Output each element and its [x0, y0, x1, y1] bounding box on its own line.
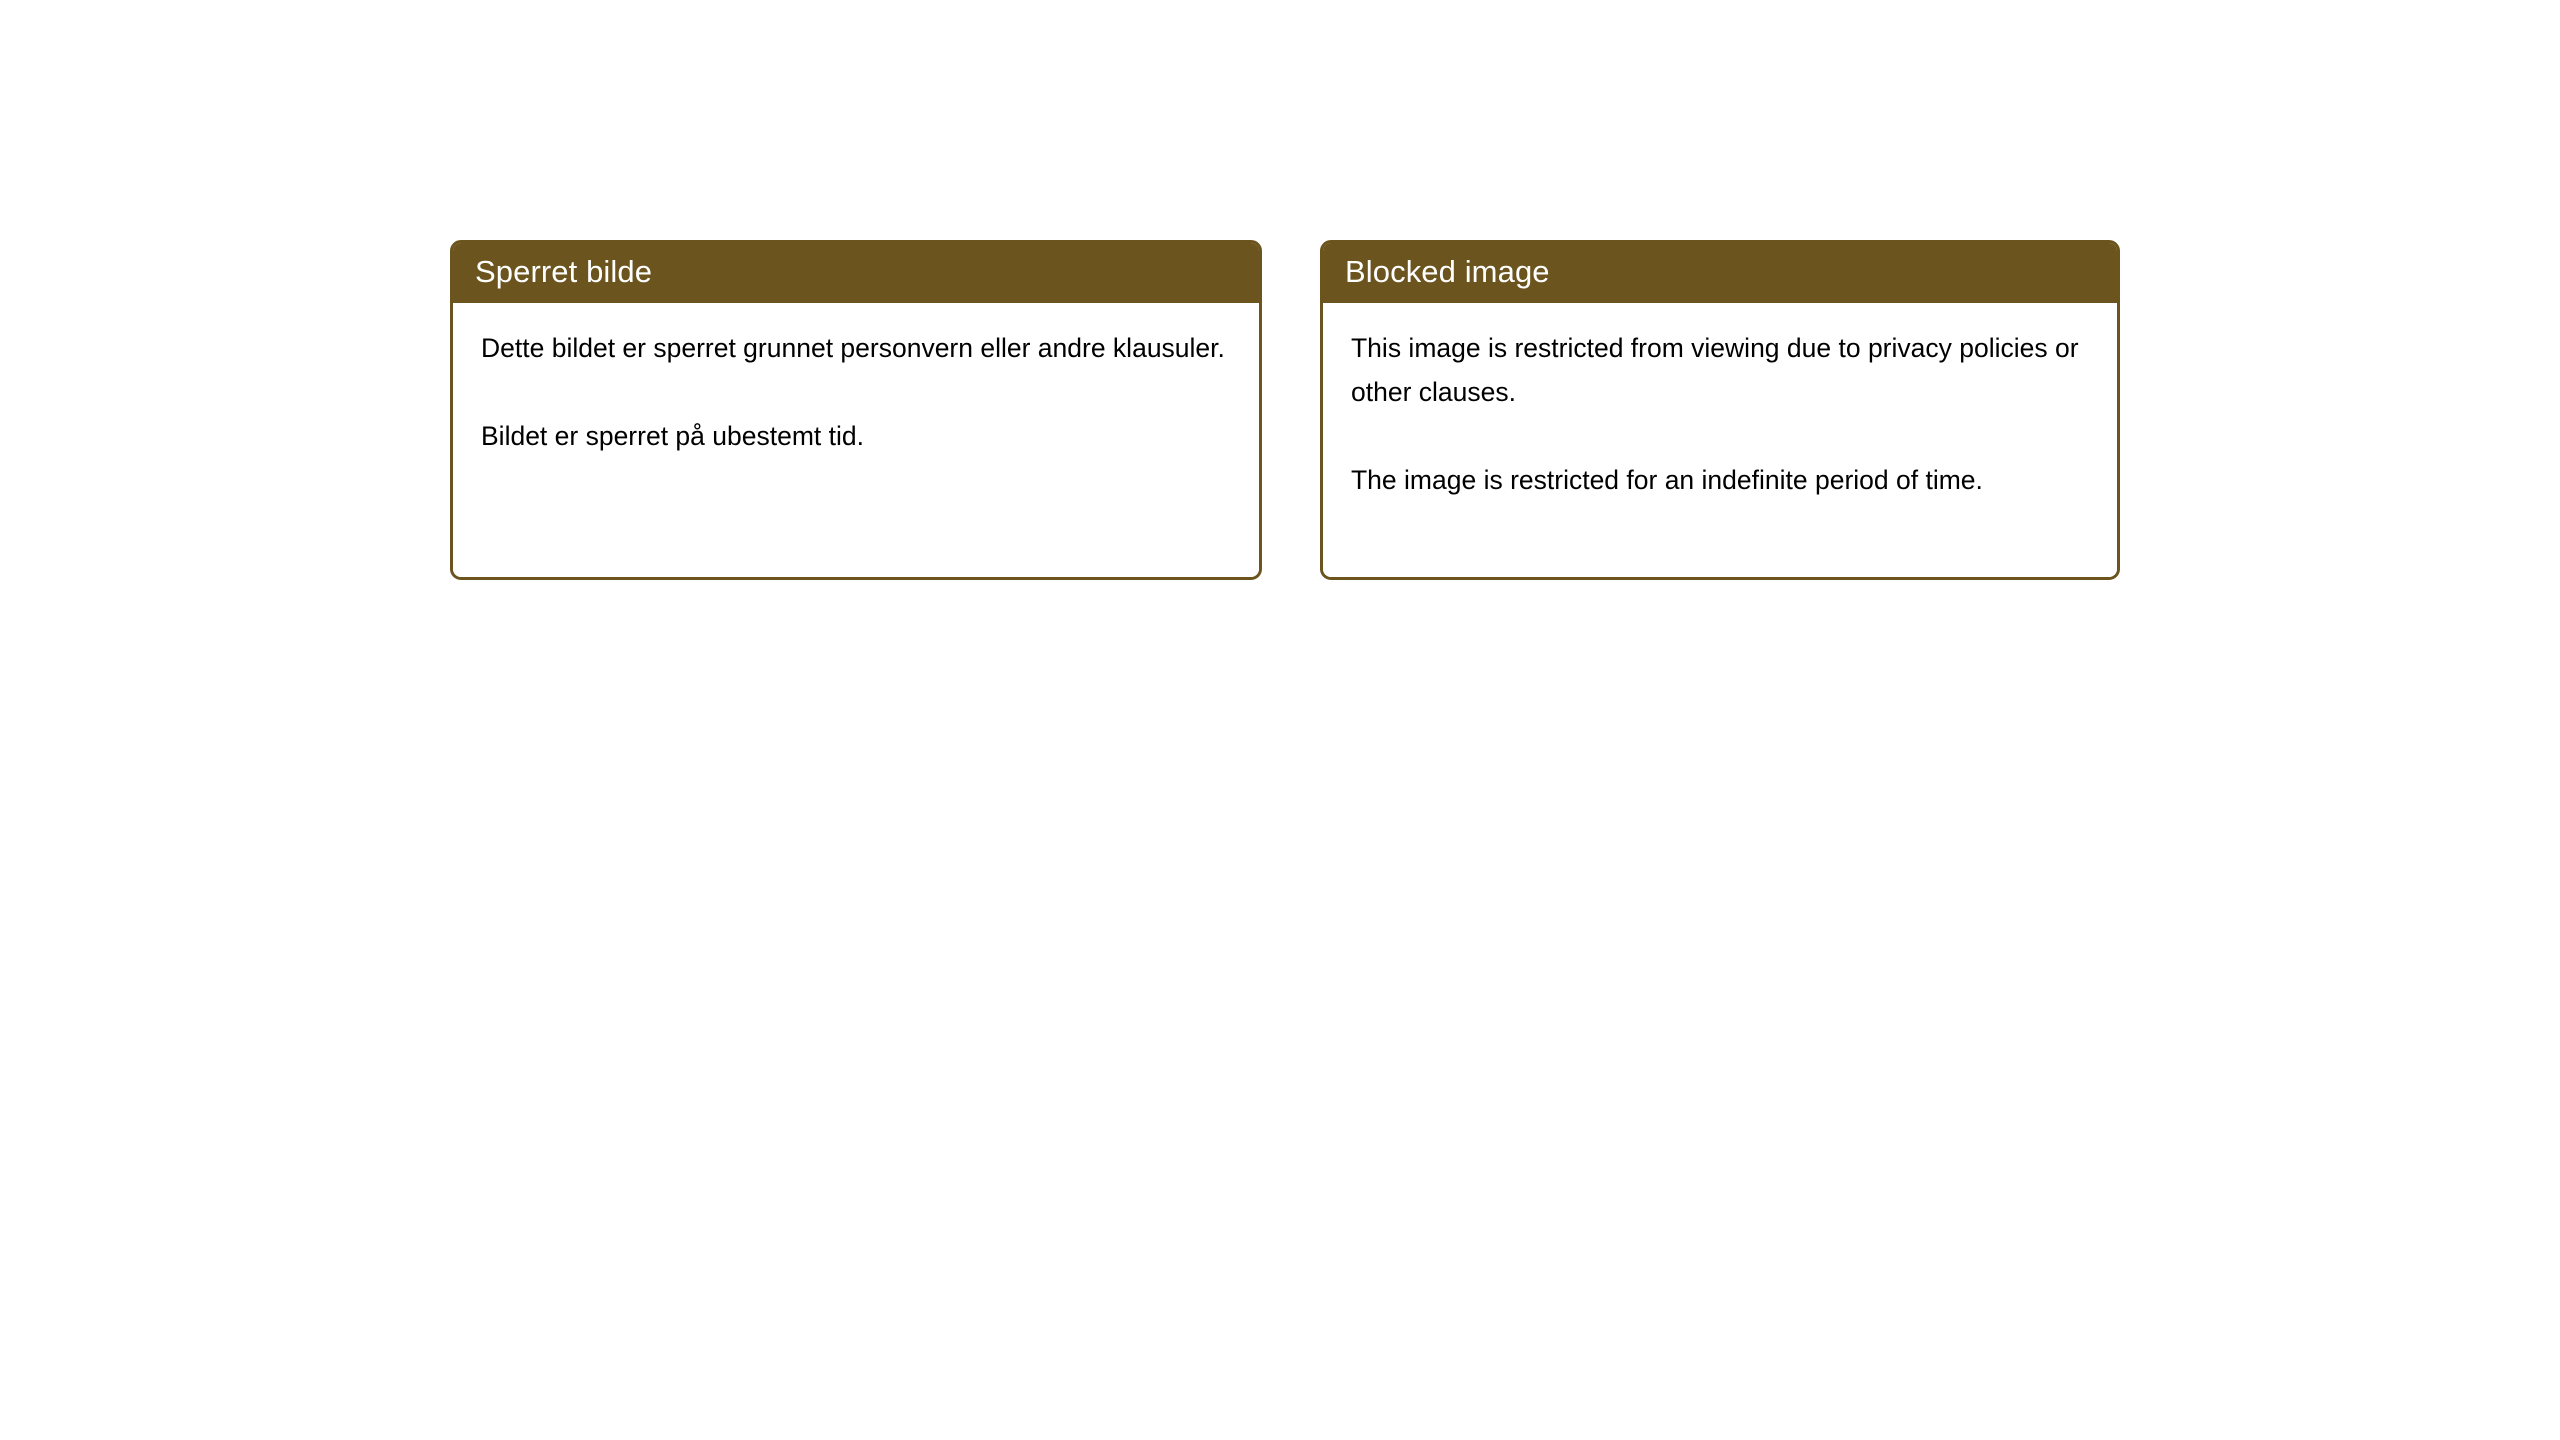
card-header-norwegian: Sperret bilde [450, 240, 1262, 303]
blocked-image-card-norwegian: Sperret bilde Dette bildet er sperret gr… [450, 240, 1262, 580]
card-body-english: This image is restricted from viewing du… [1323, 303, 2117, 577]
card-paragraph-primary-english: This image is restricted from viewing du… [1351, 326, 2097, 414]
card-paragraph-secondary-english: The image is restricted for an indefinit… [1351, 458, 2097, 502]
card-paragraph-secondary-norwegian: Bildet er sperret på ubestemt tid. [481, 414, 1239, 458]
card-title-english: Blocked image [1345, 256, 1550, 287]
card-paragraph-primary-norwegian: Dette bildet er sperret grunnet personve… [481, 326, 1239, 370]
card-title-norwegian: Sperret bilde [475, 256, 652, 287]
card-header-english: Blocked image [1320, 240, 2120, 303]
card-body-norwegian: Dette bildet er sperret grunnet personve… [453, 303, 1259, 577]
blocked-image-notice-group: Sperret bilde Dette bildet er sperret gr… [450, 240, 2120, 580]
blocked-image-card-english: Blocked image This image is restricted f… [1320, 240, 2120, 580]
